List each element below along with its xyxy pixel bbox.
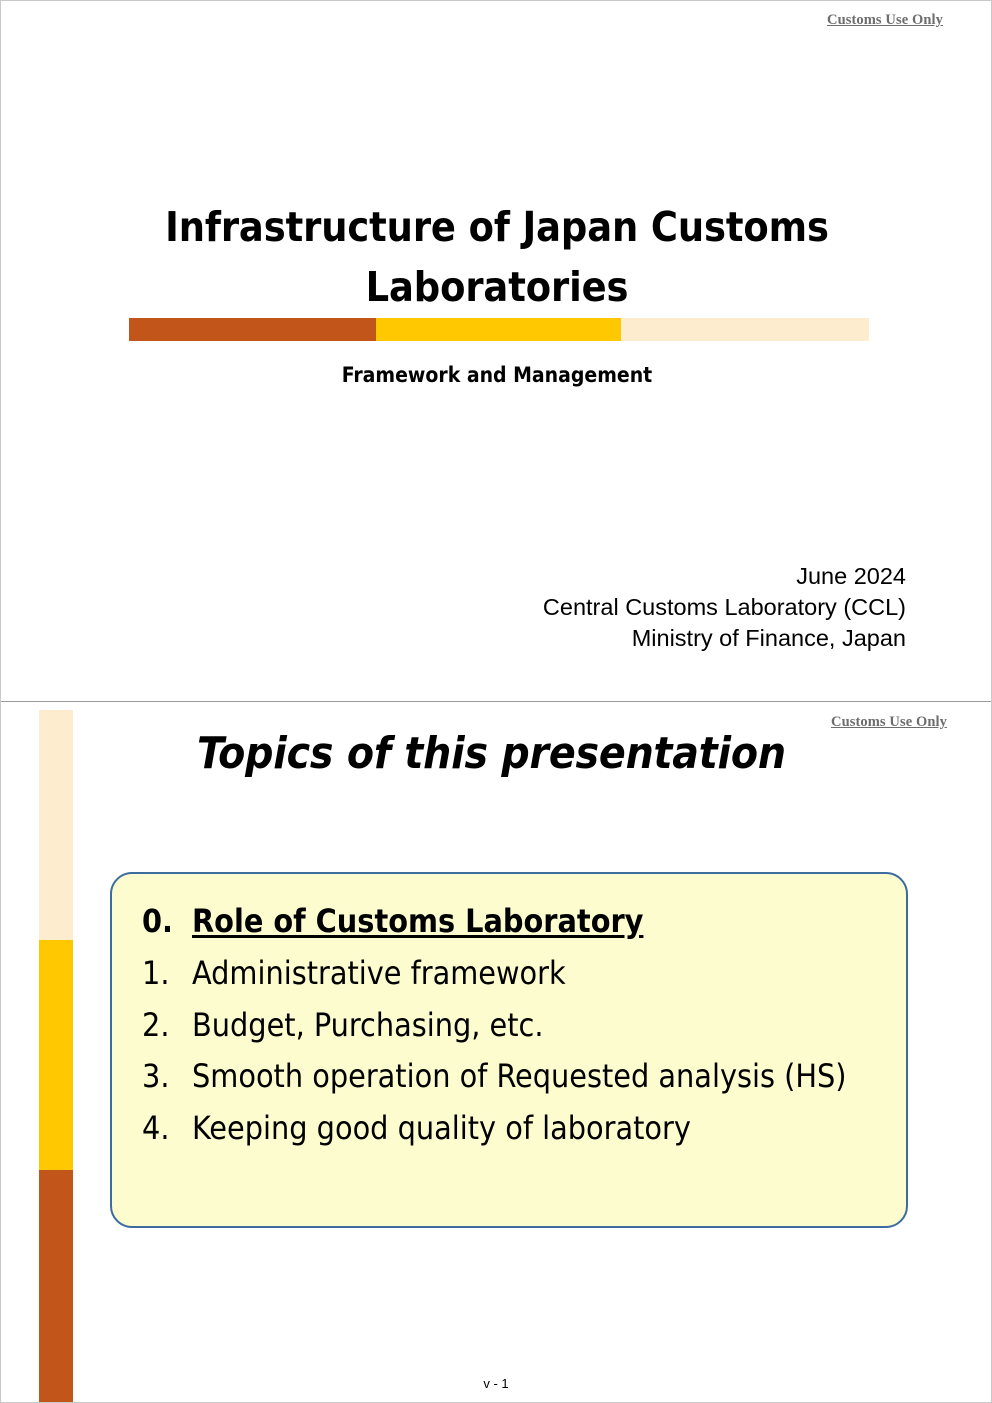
list-item-label: Role of Customs Laboratory	[192, 896, 643, 948]
accent-bar	[129, 318, 869, 341]
attribution-block: June 2024 Central Customs Laboratory (CC…	[543, 561, 906, 653]
list-item-label: Keeping good quality of laboratory	[192, 1103, 691, 1155]
accent-bar-segment-cream	[621, 318, 869, 341]
side-stripe-band-gold	[39, 940, 73, 1170]
list-item: 0.Role of Customs Laboratory	[142, 896, 894, 948]
list-item: 3.Smooth operation of Requested analysis…	[142, 1051, 894, 1103]
list-item: 4.Keeping good quality of laboratory	[142, 1103, 894, 1155]
slide-title: Customs Use Only Infrastructure of Japan…	[1, 1, 991, 701]
list-item-label: Smooth operation of Requested analysis (…	[192, 1051, 847, 1103]
list-item-label: Administrative framework	[192, 948, 566, 1000]
classification-stamp: Customs Use Only	[827, 12, 943, 29]
attribution-organization: Central Customs Laboratory (CCL)	[543, 592, 906, 623]
list-item: 1.Administrative framework	[142, 948, 894, 1000]
attribution-ministry: Ministry of Finance, Japan	[543, 623, 906, 654]
accent-bar-segment-gold	[376, 318, 621, 341]
attribution-date: June 2024	[543, 561, 906, 592]
accent-bar-segment-dark-orange	[129, 318, 376, 341]
list-item-number: 2.	[142, 1000, 192, 1052]
page-number: v - 1	[1, 1376, 991, 1391]
classification-stamp: Customs Use Only	[831, 714, 947, 731]
side-accent-stripe	[39, 702, 73, 1403]
topics-list: 0.Role of Customs Laboratory1.Administra…	[142, 896, 894, 1155]
side-stripe-band-dark-orange	[39, 1170, 73, 1403]
page-subtitle: Framework and Management	[97, 363, 897, 387]
side-stripe-band-cream	[39, 710, 73, 940]
list-item-number: 1.	[142, 948, 192, 1000]
presentation-handout-page: Customs Use Only Infrastructure of Japan…	[0, 0, 992, 1403]
page-title: Infrastructure of Japan Customs Laborato…	[97, 197, 897, 318]
list-item: 2.Budget, Purchasing, etc.	[142, 1000, 894, 1052]
slide-heading: Topics of this presentation	[197, 728, 786, 779]
list-item-label: Budget, Purchasing, etc.	[192, 1000, 544, 1052]
topics-callout-box: 0.Role of Customs Laboratory1.Administra…	[110, 872, 908, 1228]
list-item-number: 3.	[142, 1051, 192, 1103]
list-item-number: 4.	[142, 1103, 192, 1155]
list-item-number: 0.	[142, 896, 192, 948]
